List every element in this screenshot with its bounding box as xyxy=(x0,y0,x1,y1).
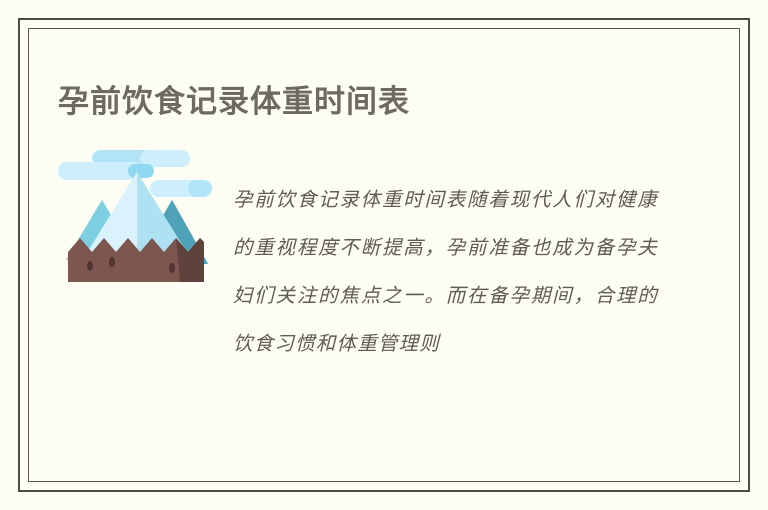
page-title: 孕前饮食记录体重时间表 xyxy=(58,81,410,123)
article-page: 孕前饮食记录体重时间表 xyxy=(0,0,768,510)
article-body: 孕前饮食记录体重时间表随着现代人们对健康的重视程度不断提高，孕前准备也成为备孕夫… xyxy=(28,134,740,482)
article-paragraph: 孕前饮食记录体重时间表随着现代人们对健康的重视程度不断提高，孕前准备也成为备孕夫… xyxy=(233,176,658,368)
mountain-illustration xyxy=(54,142,218,298)
page-content: 孕前饮食记录体重时间表 xyxy=(28,28,740,482)
